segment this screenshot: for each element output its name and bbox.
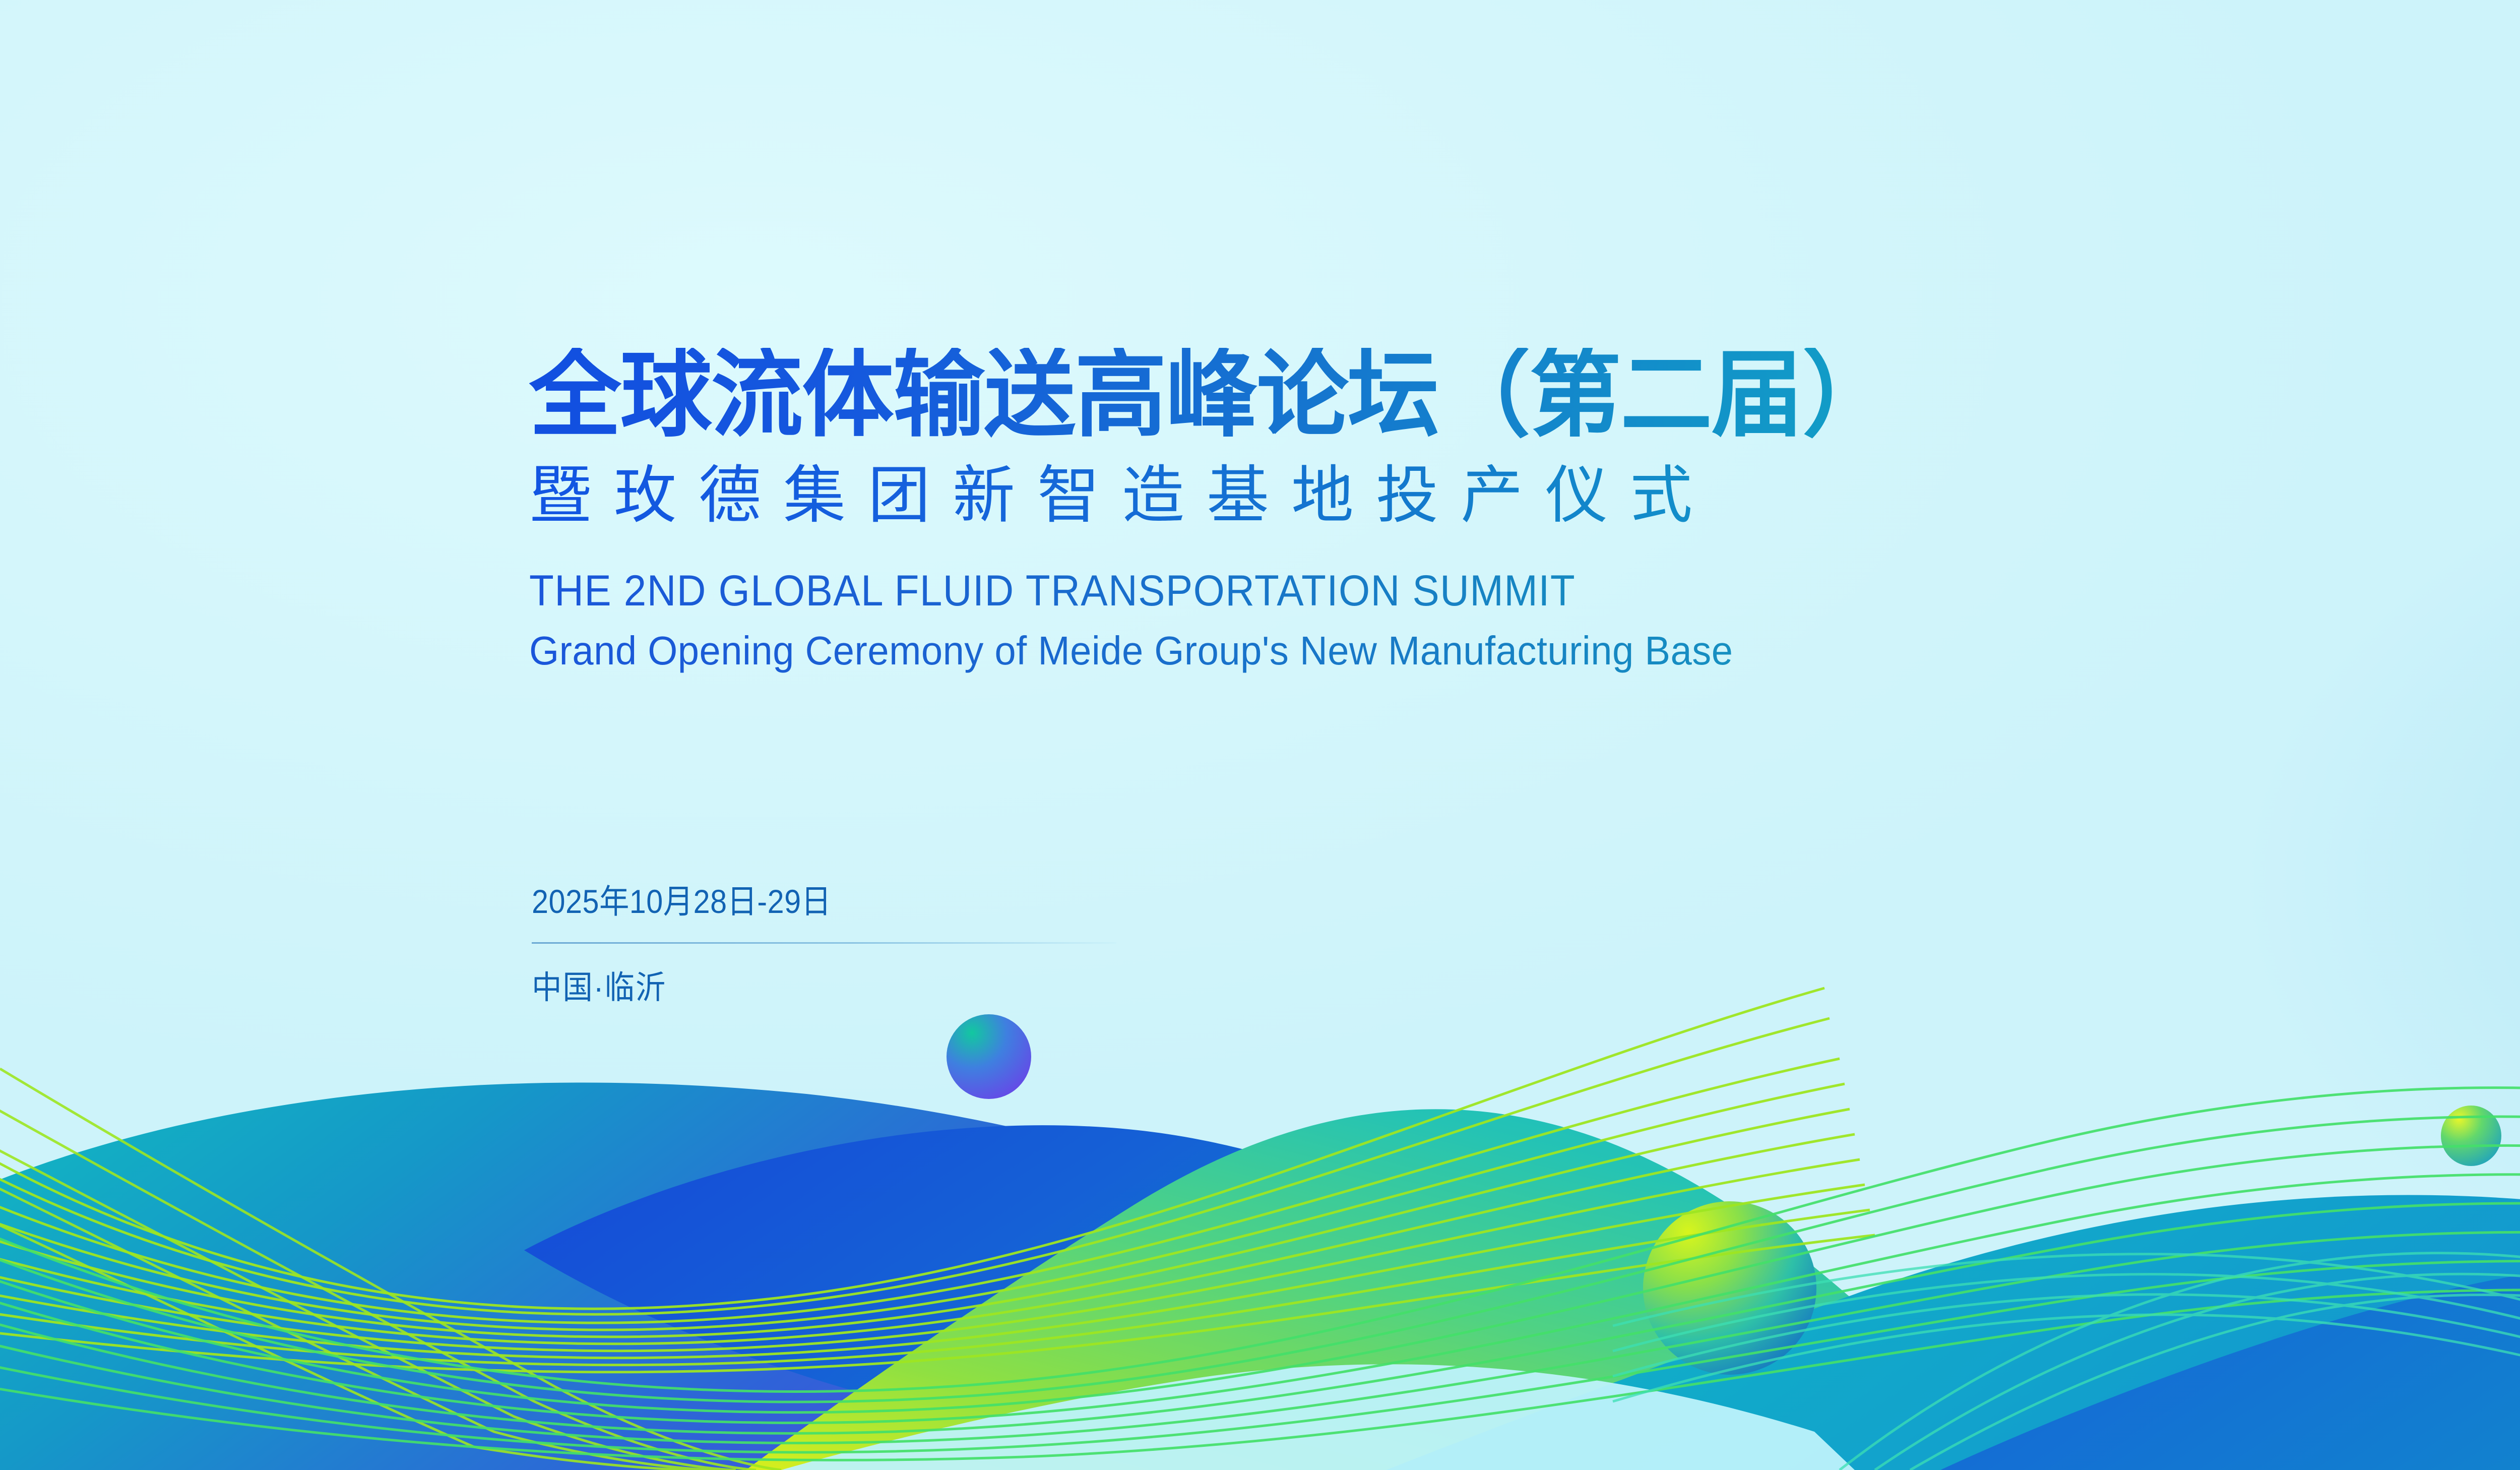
- title-sub-chinese: 暨玫德集团新智造基地投产仪式: [529, 463, 2520, 528]
- title-main-chinese: 全球流体输送高峰论坛（第二届）: [529, 348, 2520, 443]
- event-banner: 全球流体输送高峰论坛（第二届） 暨玫德集团新智造基地投产仪式 THE 2ND G…: [0, 0, 2520, 1470]
- title-sub-english: Grand Opening Ceremony of Meide Group's …: [529, 628, 2520, 674]
- title-main-english: THE 2ND GLOBAL FLUID TRANSPORTATION SUMM…: [529, 567, 2520, 615]
- event-meta-block: 2025年10月28日-29日 中国·临沂: [532, 875, 1121, 1008]
- meta-divider: [532, 942, 1116, 944]
- line-strand-graphics: [0, 0, 2520, 1470]
- strand-group-mint-center: [1613, 1253, 2520, 1470]
- headline-block: 全球流体输送高峰论坛（第二届） 暨玫德集团新智造基地投产仪式 THE 2ND G…: [529, 348, 2520, 674]
- event-location: 中国·临沂: [532, 962, 1080, 1008]
- strand-group-lime-left: [0, 988, 1875, 1372]
- event-date: 2025年10月28日-29日: [532, 875, 1062, 923]
